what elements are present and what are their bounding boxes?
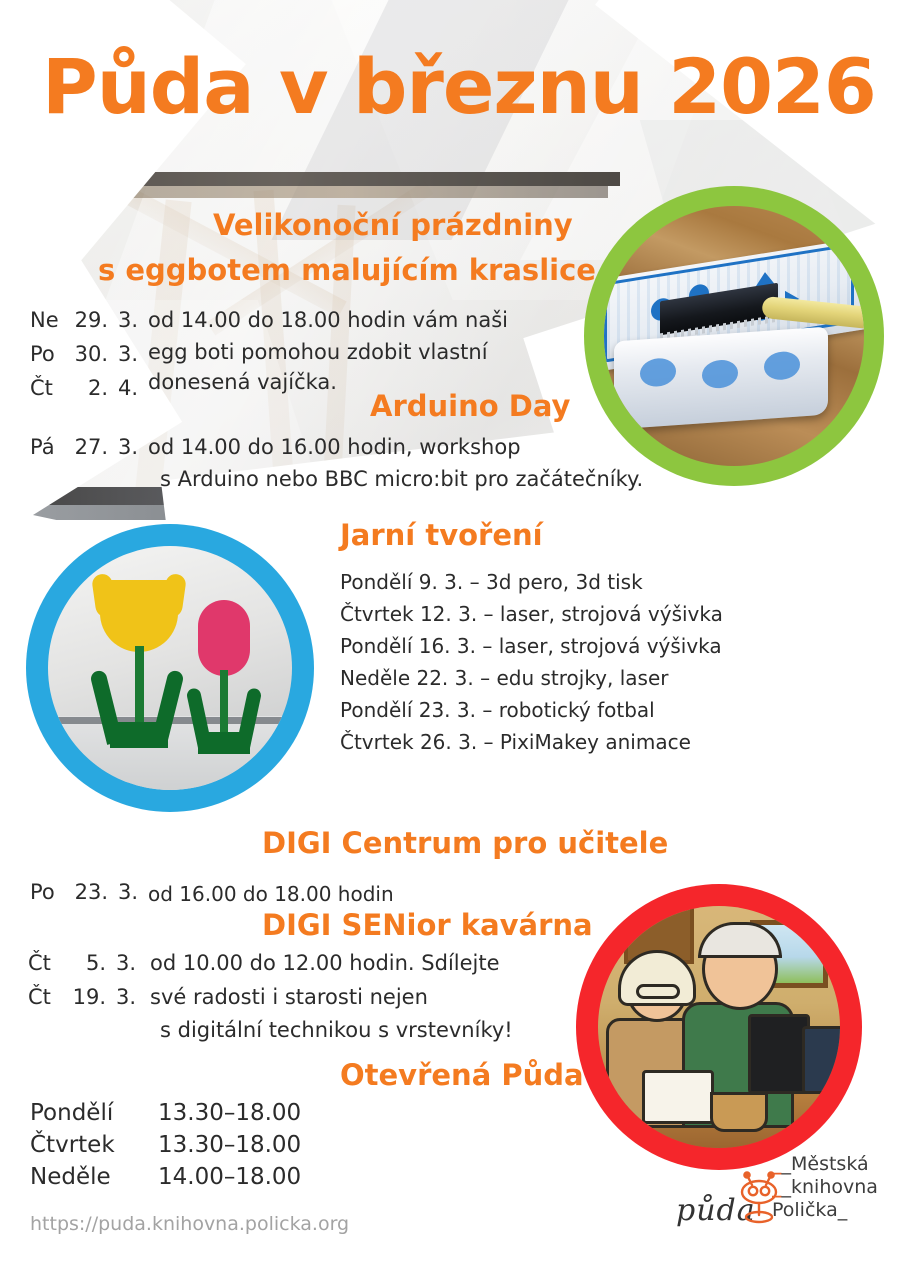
logo-underscore-2: _ — [772, 1176, 782, 1198]
date-day: 23. — [64, 880, 108, 904]
date-month: 3. — [108, 342, 138, 366]
list-item: Čtvrtek 26. 3. – PixiMakey animace — [340, 730, 691, 754]
hours-time: 14.00–18.00 — [158, 1164, 301, 1190]
date-digi-centrum-1: Po23.3. — [30, 880, 138, 904]
date-day: 30. — [64, 342, 108, 366]
hours-day: Čtvrtek — [30, 1132, 115, 1158]
heading-digi-centrum: DIGI Centrum pro učitele — [262, 826, 668, 860]
heading-easter-line1: Velikonoční prázdniny — [213, 208, 573, 242]
hours-time: 13.30–18.00 — [158, 1100, 301, 1126]
date-dow: Pá — [30, 435, 64, 459]
logo-text-block: __Městská __knihovna Polička_ — [772, 1153, 878, 1222]
date-month: 3. — [106, 951, 136, 975]
text-digi-senior-3: s digitální technikou s vrstevníky! — [160, 1018, 513, 1042]
date-dow: Čt — [28, 951, 62, 975]
date-easter-1: Ne29.3. — [30, 308, 138, 332]
website-url[interactable]: https://puda.knihovna.policka.org — [30, 1213, 349, 1235]
date-day: 19. — [62, 985, 106, 1009]
date-dow: Ne — [30, 308, 64, 332]
date-easter-2: Po30.3. — [30, 342, 138, 366]
date-month: 3. — [108, 308, 138, 332]
date-day: 27. — [64, 435, 108, 459]
logo-line-2-text: _knihovna — [782, 1176, 878, 1198]
poster-canvas: Půda v březnu 2026 Velikonoční prázdniny… — [0, 0, 905, 1280]
date-dow: Čt — [28, 985, 62, 1009]
text-arduino-2: s Arduino nebo BBC micro:bit pro začáteč… — [160, 467, 643, 491]
date-digi-senior-2: Čt19.3. — [28, 985, 136, 1009]
text-easter-2: egg boti pomohou zdobit vlastní — [148, 340, 488, 364]
logo-line-3: Polička_ — [772, 1199, 878, 1222]
hours-time: 13.30–18.00 — [158, 1132, 301, 1158]
date-month: 4. — [108, 376, 138, 400]
text-easter-3: donesená vajíčka. — [148, 370, 337, 394]
date-day: 29. — [64, 308, 108, 332]
text-arduino-1: od 14.00 do 16.00 hodin, workshop — [148, 435, 521, 459]
logo-line-1-text: _Městská — [782, 1153, 869, 1175]
list-item: Pondělí 23. 3. – robotický fotbal — [340, 698, 655, 722]
date-day: 5. — [62, 951, 106, 975]
logo-line-1: __Městská — [772, 1153, 878, 1176]
date-month: 3. — [106, 985, 136, 1009]
date-dow: Po — [30, 342, 64, 366]
text-digi-senior-1: od 10.00 do 12.00 hodin. Sdílejte — [150, 951, 500, 975]
heading-arduino: Arduino Day — [370, 389, 570, 423]
heading-easter-line2: s eggbotem malujícím kraslice — [98, 253, 596, 287]
hours-day: Pondělí — [30, 1100, 113, 1126]
page-title: Půda v březnu 2026 — [42, 42, 872, 131]
heading-spring: Jarní tvoření — [340, 518, 543, 552]
date-month: 3. — [108, 880, 138, 904]
list-item: Pondělí 16. 3. – laser, strojová výšivka — [340, 634, 722, 658]
poster-content: Půda v březnu 2026 Velikonoční prázdniny… — [0, 0, 905, 1280]
logo-line-3-text: Polička_ — [772, 1199, 847, 1221]
hours-day: Neděle — [30, 1164, 111, 1190]
logo-line-2: __knihovna — [772, 1176, 878, 1199]
date-dow: Čt — [30, 376, 64, 400]
date-digi-senior-1: Čt5.3. — [28, 951, 136, 975]
text-digi-senior-2: své radosti i starosti nejen — [150, 985, 428, 1009]
date-easter-3: Čt2.4. — [30, 376, 138, 400]
date-month: 3. — [108, 435, 138, 459]
date-dow: Po — [30, 880, 64, 904]
list-item: Pondělí 9. 3. – 3d pero, 3d tisk — [340, 570, 643, 594]
library-logo[interactable]: půda __Městská __knihovna Polička_ — [676, 1155, 890, 1235]
logo-underscore-1: _ — [772, 1153, 782, 1175]
date-day: 2. — [64, 376, 108, 400]
date-arduino-1: Pá27.3. — [30, 435, 138, 459]
list-item: Čtvrtek 12. 3. – laser, strojová výšivka — [340, 602, 723, 626]
list-item: Neděle 22. 3. – edu strojky, laser — [340, 666, 669, 690]
text-easter-1: od 14.00 do 18.00 hodin vám naši — [148, 308, 508, 332]
text-digi-centrum-1: od 16.00 do 18.00 hodin — [148, 882, 394, 906]
heading-open-hours: Otevřená Půda — [340, 1058, 584, 1092]
heading-digi-senior: DIGI SENior kavárna — [262, 908, 593, 942]
